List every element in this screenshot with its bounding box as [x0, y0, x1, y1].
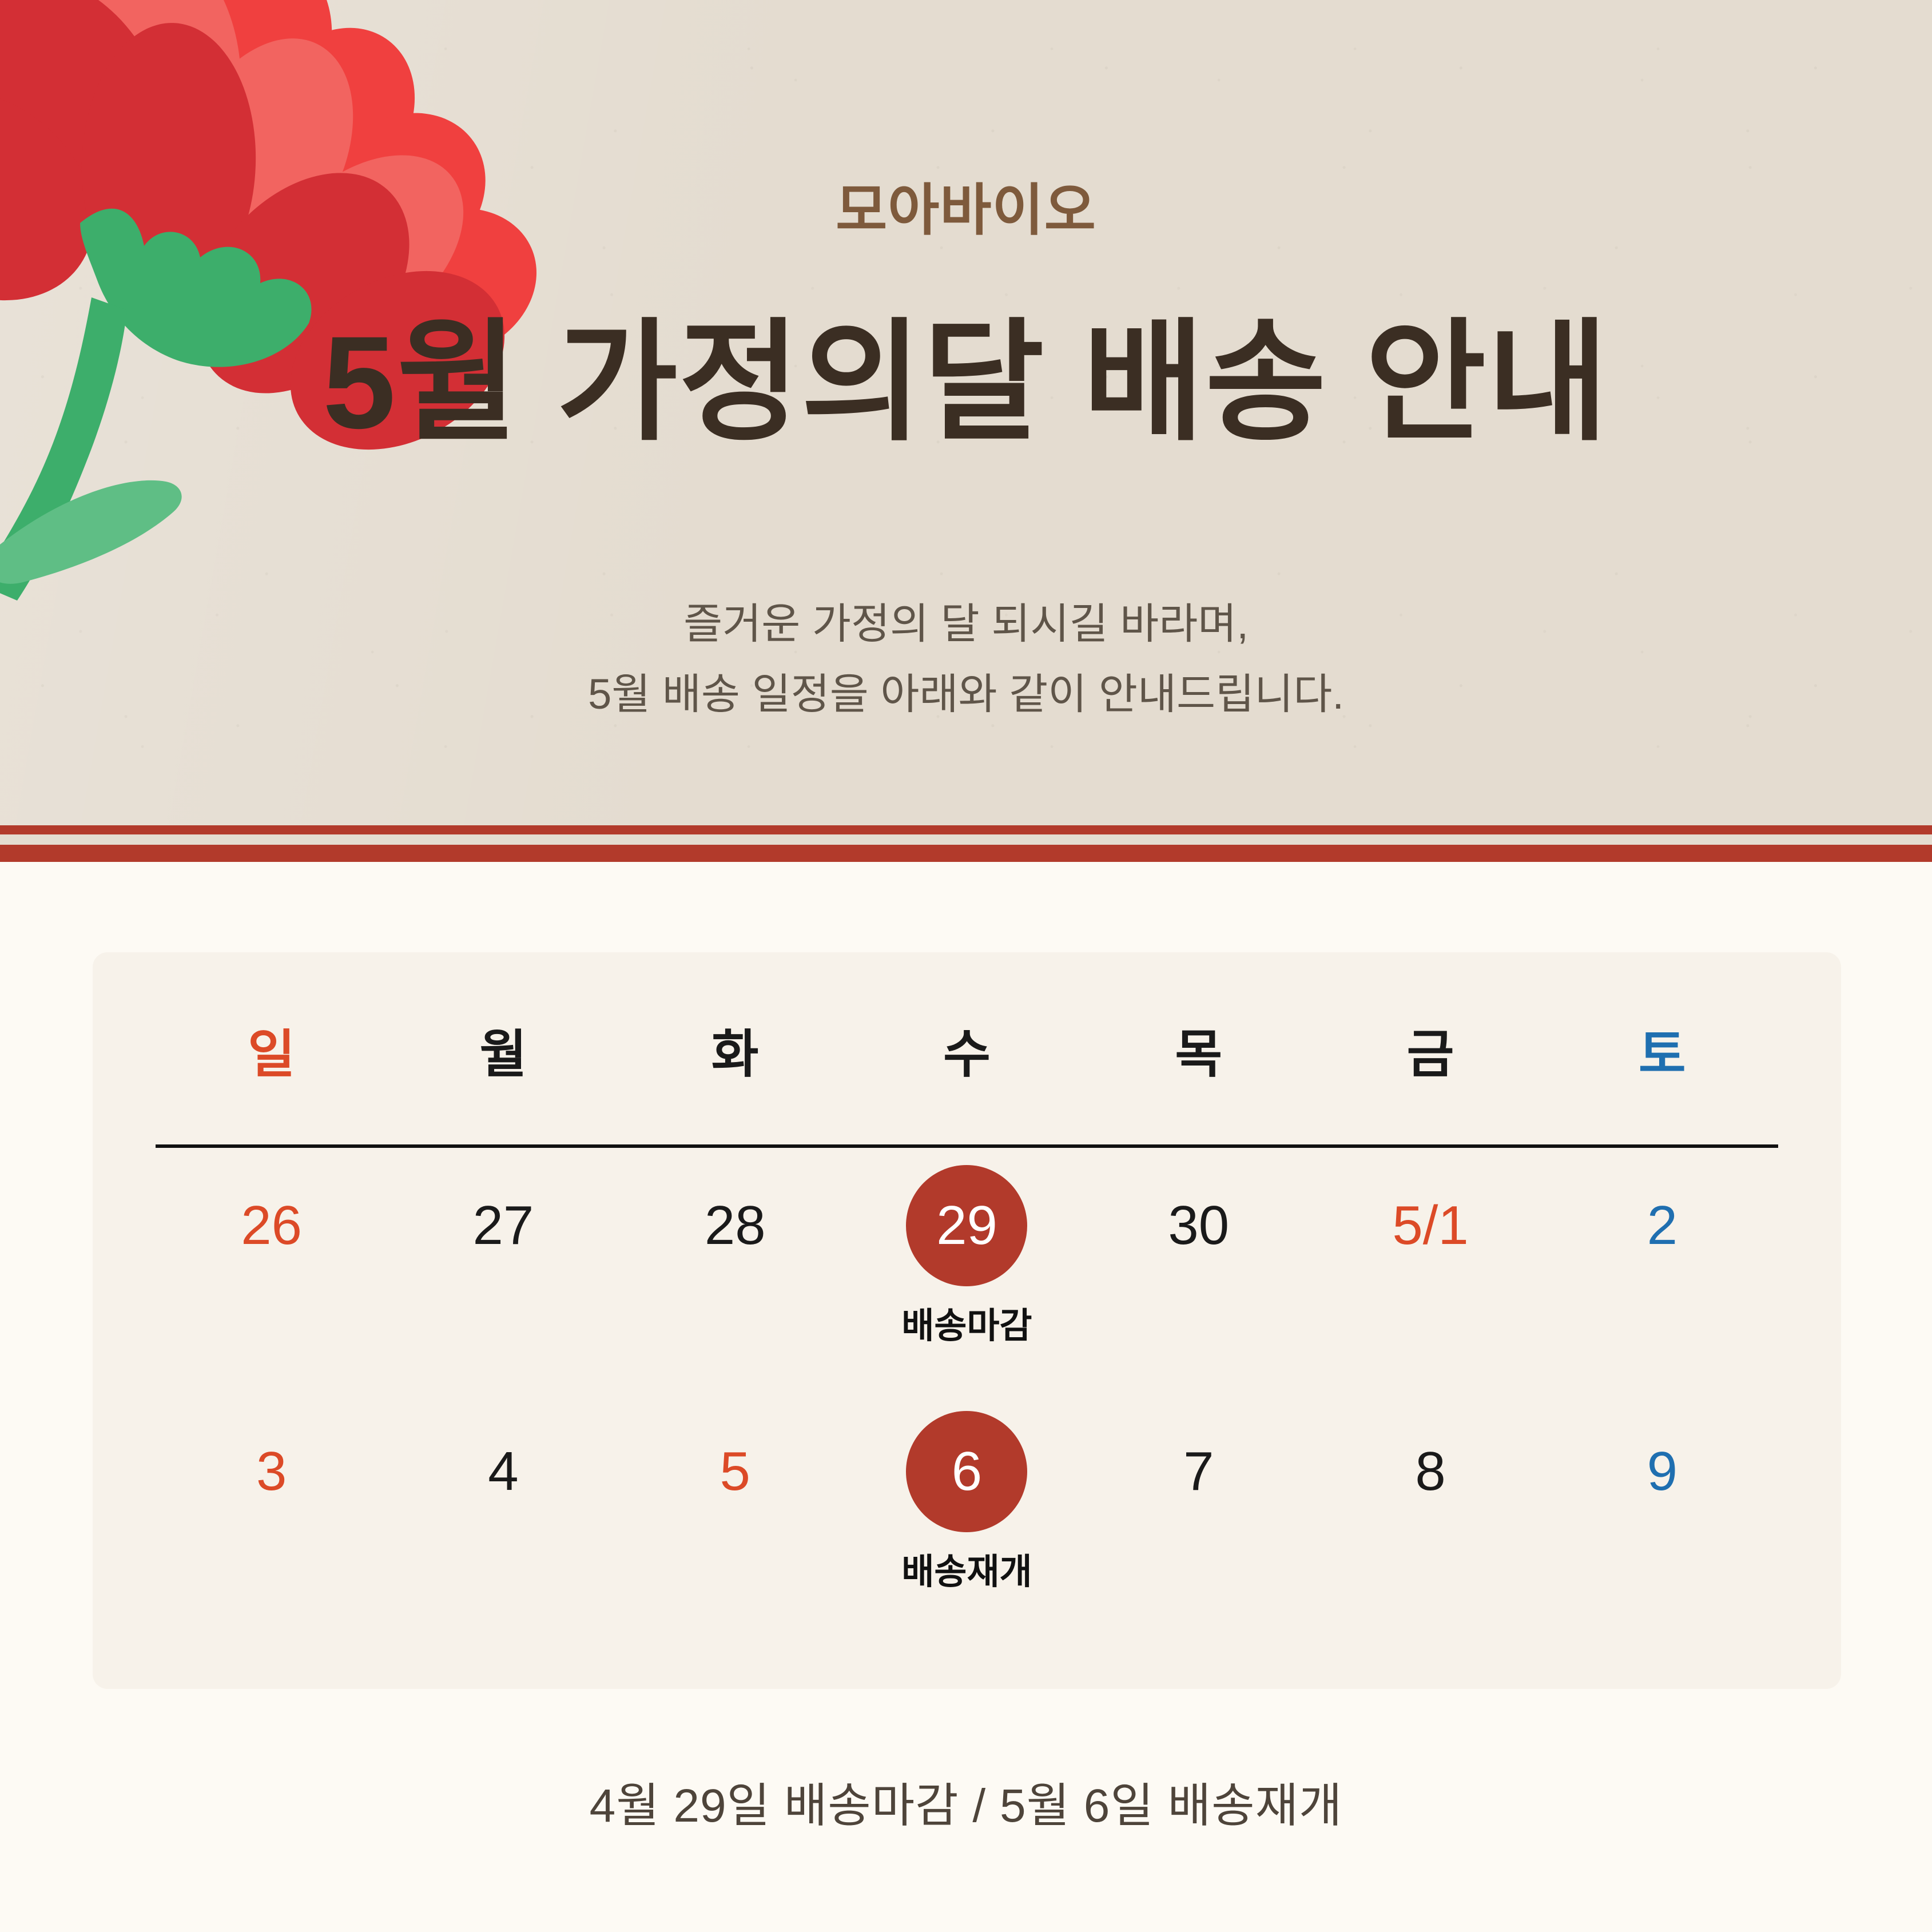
calendar-day-number: 27 — [473, 1198, 534, 1253]
divider-stripe-gap — [0, 834, 1932, 845]
calendar-day-number: 9 — [1647, 1444, 1677, 1499]
weekday-header-5: 금 — [1314, 1012, 1546, 1087]
calendar-day-cell[interactable]: 30 — [1083, 1198, 1314, 1416]
calendar-day-cell[interactable]: 4 — [387, 1444, 619, 1661]
calendar-day-cell[interactable]: 5/1 — [1314, 1198, 1546, 1416]
calendar-day-number: 30 — [1168, 1198, 1229, 1253]
carnation-flower-illustration — [0, 0, 583, 601]
calendar-day-cell[interactable]: 27 — [387, 1198, 619, 1416]
weekday-header-2: 화 — [619, 1012, 851, 1087]
calendar-day-cell[interactable]: 29배송마감 — [851, 1198, 1083, 1416]
subtitle-line-2: 5월 배송 일정을 아래와 같이 안내드립니다. — [0, 659, 1932, 730]
calendar-day-number: 3 — [256, 1444, 287, 1499]
calendar-day-cell[interactable]: 6배송재개 — [851, 1444, 1083, 1661]
calendar-day-label: 배송마감 — [901, 1297, 1032, 1348]
calendar-day-number: 28 — [705, 1198, 766, 1253]
subtitle-line-1: 즐거운 가정의 달 되시길 바라며, — [0, 589, 1932, 659]
header-banner: 모아바이오 5월 가정의달 배송 안내 즐거운 가정의 달 되시길 바라며, 5… — [0, 0, 1932, 825]
calendar-day-cell[interactable]: 2 — [1547, 1198, 1778, 1416]
calendar-day-number: 26 — [241, 1198, 302, 1253]
calendar-week-row: 3456배송재개789 — [156, 1444, 1778, 1661]
calendar-day-number: 5 — [720, 1444, 750, 1499]
calendar-day-number: 8 — [1415, 1444, 1445, 1499]
brand-name: 모아바이오 — [0, 165, 1932, 246]
page-subtitle: 즐거운 가정의 달 되시길 바라며, 5월 배송 일정을 아래와 같이 안내드립… — [0, 589, 1932, 730]
weekday-header-3: 수 — [851, 1012, 1083, 1087]
calendar-day-cell[interactable]: 26 — [156, 1198, 387, 1416]
calendar-day-marker: 29 — [906, 1165, 1027, 1286]
calendar-day-cell[interactable]: 5 — [619, 1444, 851, 1661]
calendar-header-rule — [156, 1144, 1778, 1148]
calendar-day-cell[interactable]: 7 — [1083, 1444, 1314, 1661]
schedule-summary: 4월 29일 배송마감 / 5월 6일 배송재개 — [0, 1767, 1932, 1835]
calendar-day-marker: 6 — [906, 1411, 1027, 1532]
calendar-weekday-header: 일월화수목금토 — [156, 1012, 1778, 1087]
weekday-header-1: 월 — [387, 1012, 619, 1087]
calendar-day-cell[interactable]: 8 — [1314, 1444, 1546, 1661]
calendar-day-number: 7 — [1183, 1444, 1214, 1499]
calendar-day-label: 배송재개 — [901, 1543, 1032, 1594]
calendar-week-row: 26272829배송마감305/12 — [156, 1198, 1778, 1416]
calendar-day-number: 2 — [1647, 1198, 1677, 1253]
calendar-day-cell[interactable]: 9 — [1547, 1444, 1778, 1661]
calendar-day-number: 4 — [488, 1444, 518, 1499]
calendar-card: 일월화수목금토 26272829배송마감305/12 3456배송재개789 — [93, 952, 1841, 1689]
calendar-day-cell[interactable]: 3 — [156, 1444, 387, 1661]
weekday-header-4: 목 — [1083, 1012, 1314, 1087]
weekday-header-6: 토 — [1547, 1012, 1778, 1087]
calendar-day-cell[interactable]: 28 — [619, 1198, 851, 1416]
weekday-header-0: 일 — [156, 1012, 387, 1087]
divider-stripe-top — [0, 825, 1932, 834]
page-title: 5월 가정의달 배송 안내 — [0, 309, 1932, 456]
divider-stripe-bottom — [0, 845, 1932, 862]
calendar-day-number: 5/1 — [1392, 1198, 1468, 1253]
